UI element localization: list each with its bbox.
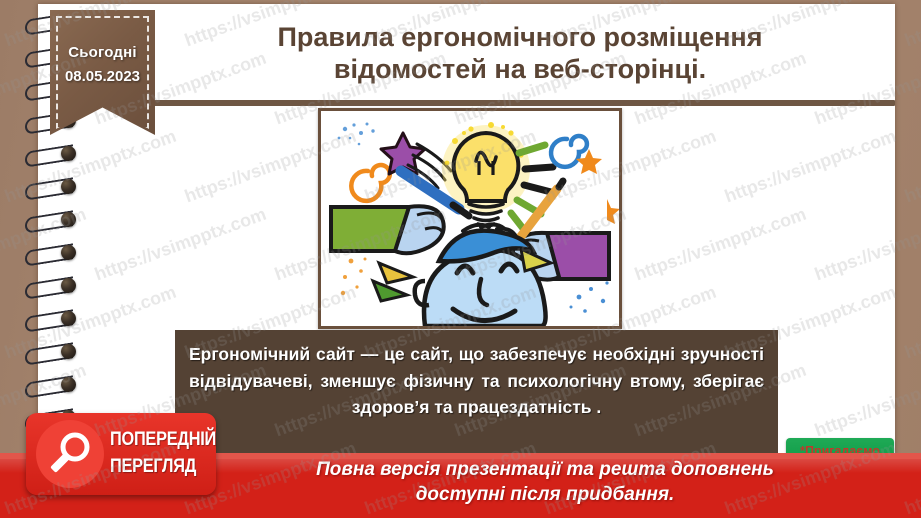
preview-badge-line1: ПОПЕРЕДНІЙ [110,429,196,451]
creative-idea-illustration [318,108,622,329]
magnifier-icon [36,420,104,488]
slide-title-line2: відомостей на веб-сторінці. [170,54,870,86]
presentation-slide: Сьогодні 08.05.2023 Правила ергономічног… [0,0,921,518]
definition-panel: Ергономічний сайт — це сайт, що забезпеч… [175,330,778,465]
slide-title: Правила ергономічного розміщення відомос… [170,22,870,86]
watermark-text: https://vsimpptx.com [902,0,921,51]
preview-badge-line2: ПЕРЕГЛЯД [110,456,196,478]
watermark-text: https://vsimpptx.com [902,126,921,208]
title-divider [150,100,895,106]
watermark-text: https://vsimpptx.com [902,282,921,364]
ribbon-date-value: 08.05.2023 [50,68,155,85]
purchase-notice-line2: доступні після придбання. [200,484,890,506]
purchase-notice-line1: Повна версія презентації та решта доповн… [200,459,890,481]
ribbon-today-label: Сьогодні [50,44,155,61]
slide-title-line1: Правила ергономічного розміщення [170,22,870,54]
preview-badge[interactable]: ПОПЕРЕДНІЙ ПЕРЕГЛЯД [26,413,216,495]
definition-text: Ергономічний сайт — це сайт, що забезпеч… [175,330,778,421]
